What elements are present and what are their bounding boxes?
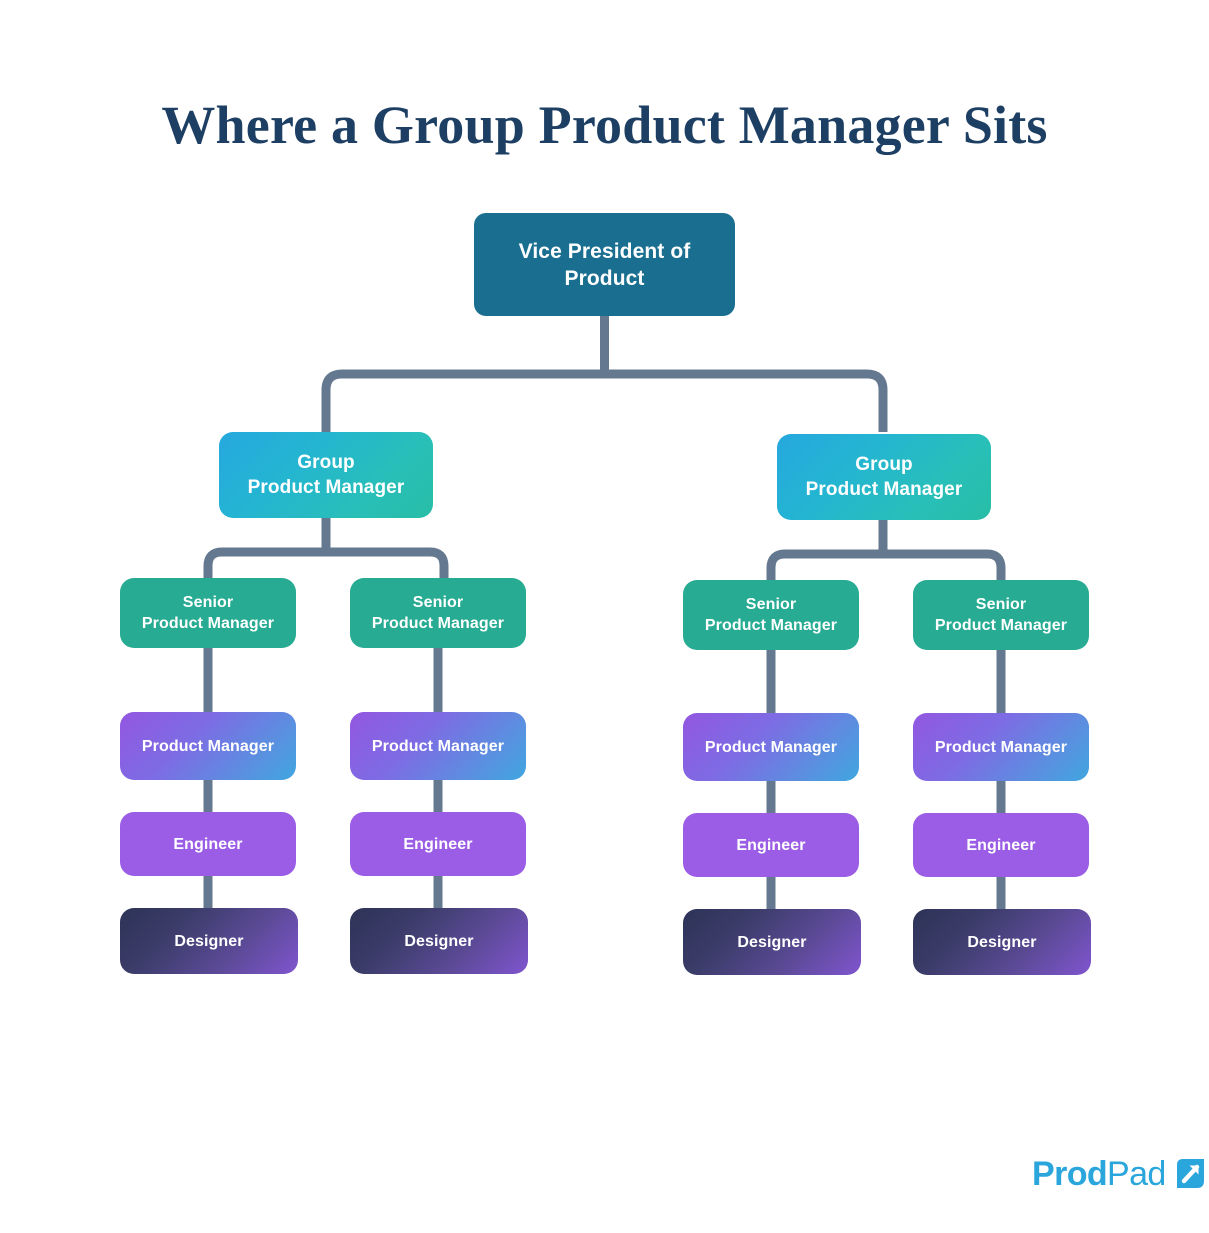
node-label: Designer (689, 932, 855, 953)
node-group-product-manager-left[interactable]: Group Product Manager (219, 432, 433, 518)
node-senior-product-manager-3[interactable]: Senior Product Manager (683, 580, 859, 650)
node-label: Product Manager (689, 737, 853, 758)
page-title: Where a Group Product Manager Sits (0, 92, 1209, 158)
node-senior-product-manager-2[interactable]: Senior Product Manager (350, 578, 526, 648)
node-designer-4[interactable]: Designer (913, 909, 1091, 975)
node-product-manager-4[interactable]: Product Manager (913, 713, 1089, 781)
node-label: Vice President of Product (480, 238, 729, 292)
node-label: Product Manager (126, 736, 290, 757)
node-label: Engineer (689, 835, 853, 856)
node-engineer-3[interactable]: Engineer (683, 813, 859, 877)
node-engineer-1[interactable]: Engineer (120, 812, 296, 876)
prodpad-arrow-icon (1173, 1156, 1209, 1192)
node-label: Product Manager (919, 737, 1083, 758)
node-label: Senior Product Manager (689, 594, 853, 636)
node-label: Designer (356, 931, 522, 952)
logo-text-pad: Pad (1107, 1155, 1166, 1193)
node-label: Group Product Manager (225, 450, 427, 500)
node-product-manager-1[interactable]: Product Manager (120, 712, 296, 780)
node-label: Senior Product Manager (126, 592, 290, 634)
node-product-manager-2[interactable]: Product Manager (350, 712, 526, 780)
node-label: Senior Product Manager (919, 594, 1083, 636)
node-product-manager-3[interactable]: Product Manager (683, 713, 859, 781)
prodpad-logo[interactable]: ProdPad (1032, 1155, 1209, 1193)
node-label: Group Product Manager (783, 452, 985, 502)
node-label: Designer (126, 931, 292, 952)
node-designer-3[interactable]: Designer (683, 909, 861, 975)
org-chart-canvas: Where a Group Product Manager Sits (0, 0, 1209, 1233)
node-label: Engineer (126, 834, 290, 855)
node-group-product-manager-right[interactable]: Group Product Manager (777, 434, 991, 520)
node-designer-2[interactable]: Designer (350, 908, 528, 974)
prodpad-wordmark: ProdPad (1032, 1155, 1166, 1193)
node-designer-1[interactable]: Designer (120, 908, 298, 974)
node-senior-product-manager-1[interactable]: Senior Product Manager (120, 578, 296, 648)
node-label: Product Manager (356, 736, 520, 757)
node-engineer-2[interactable]: Engineer (350, 812, 526, 876)
node-engineer-4[interactable]: Engineer (913, 813, 1089, 877)
node-vice-president-of-product[interactable]: Vice President of Product (474, 213, 735, 316)
node-senior-product-manager-4[interactable]: Senior Product Manager (913, 580, 1089, 650)
node-label: Designer (919, 932, 1085, 953)
node-label: Engineer (919, 835, 1083, 856)
node-label: Engineer (356, 834, 520, 855)
node-label: Senior Product Manager (356, 592, 520, 634)
logo-text-prod: Prod (1032, 1155, 1107, 1193)
